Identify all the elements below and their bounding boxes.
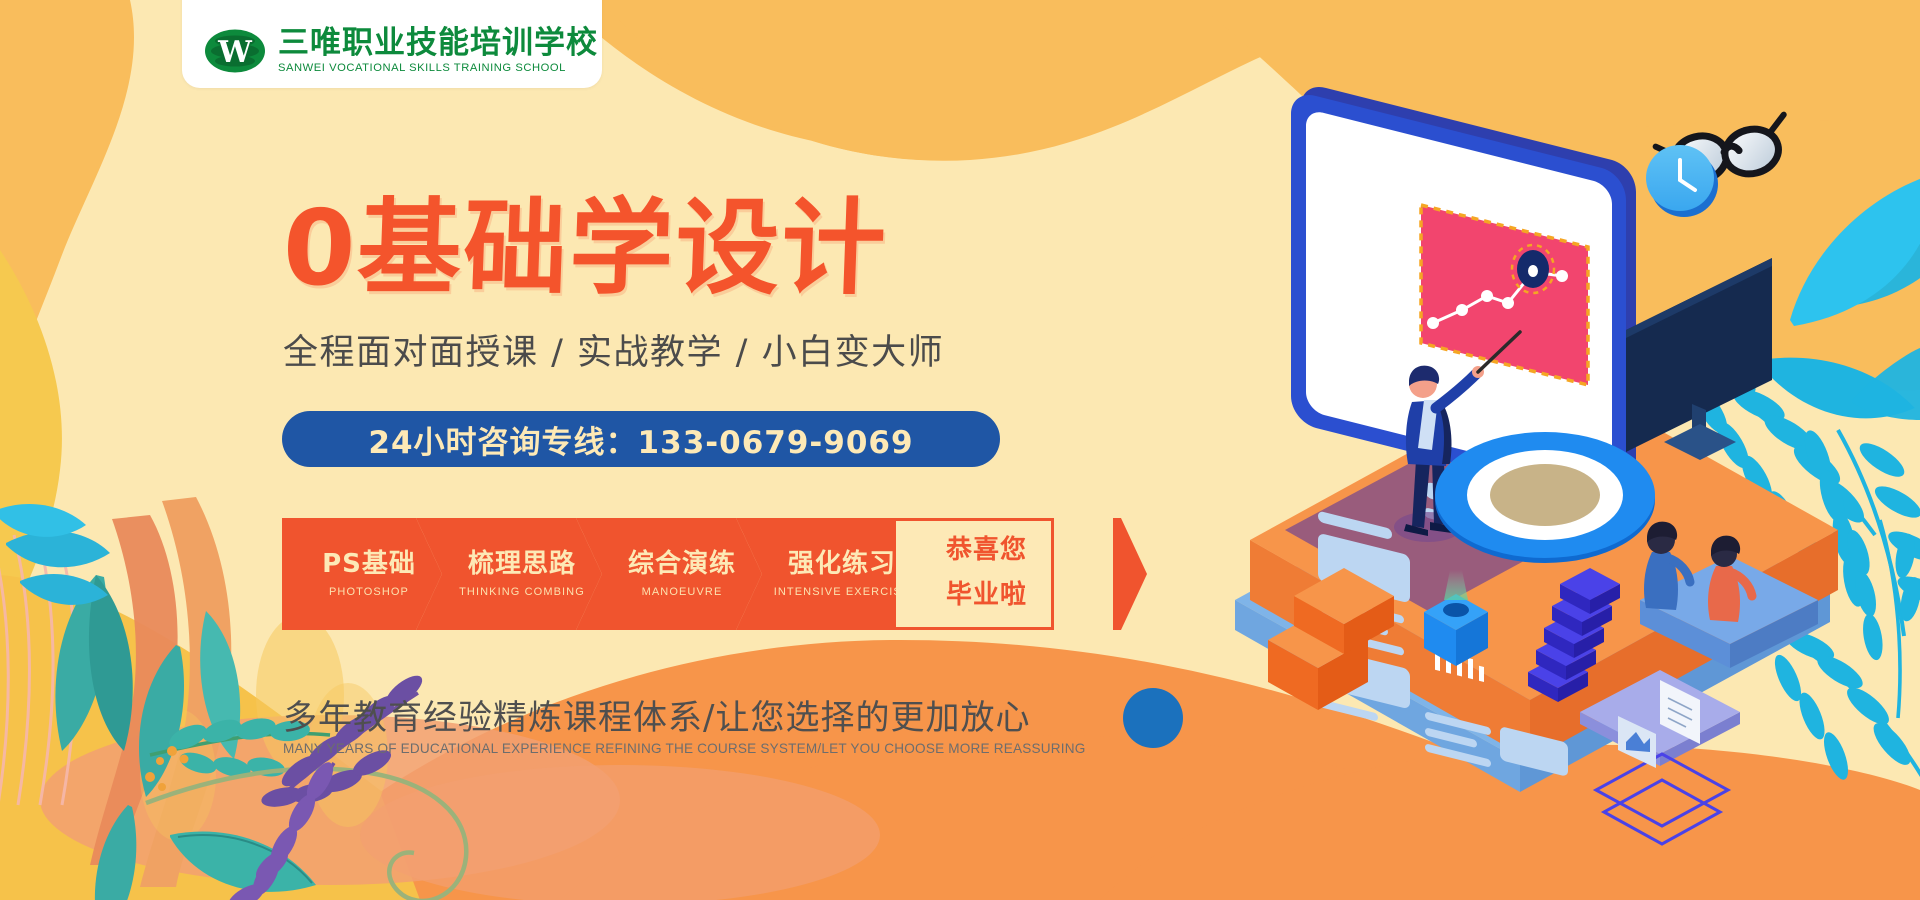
tagline-en: MANY YEARS OF EDUCATIONAL EXPERIENCE REF… — [283, 740, 1086, 756]
step-1[interactable]: PS基础 PHOTOSHOP — [282, 518, 442, 630]
promo-banner: W 三唯职业技能培训学校 SANWEI VOCATIONAL SKILLS TR… — [0, 0, 1920, 900]
svg-text:W: W — [217, 35, 253, 70]
tagline-cn: 多年教育经验精炼课程体系/让您选择的更加放心 — [283, 690, 1030, 739]
logo-name-en: SANWEI VOCATIONAL SKILLS TRAINING SCHOOL — [278, 63, 598, 74]
step-2[interactable]: 梳理思路 THINKING COMBING — [416, 518, 602, 630]
logo-card[interactable]: W 三唯职业技能培训学校 SANWEI VOCATIONAL SKILLS TR… — [182, 0, 602, 88]
step-graduation[interactable]: 恭喜您 毕业啦 — [896, 518, 1054, 630]
step-3-label-cn: 综合演练 — [628, 551, 736, 577]
step-4[interactable]: 强化练习 INTENSIVE EXERCISE — [736, 518, 922, 630]
school-logo-icon: W — [204, 28, 266, 74]
content-column: 0基础学设计 全程面对面授课 / 实战教学 / 小白变大师 24小时咨询专线：1… — [0, 0, 1250, 900]
step-1-label-cn: PS基础 — [322, 551, 416, 577]
graduation-line-1: 恭喜您 — [946, 537, 1027, 563]
step-4-label-cn: 强化练习 — [788, 551, 896, 577]
graduation-line-2: 毕业啦 — [946, 574, 1027, 611]
step-3-label-en: MANOEUVRE — [642, 587, 723, 598]
step-4-label-en: INTENSIVE EXERCISE — [774, 587, 911, 598]
hotline-text: 24小时咨询专线：133-0679-9069 — [368, 417, 913, 462]
step-2-label-en: THINKING COMBING — [459, 587, 585, 598]
step-1-label-en: PHOTOSHOP — [329, 587, 409, 598]
step-2-label-cn: 梳理思路 — [468, 551, 576, 577]
logo-name-cn: 三唯职业技能培训学校 — [278, 28, 598, 59]
subheadline: 全程面对面授课 / 实战教学 / 小白变大师 — [283, 336, 944, 371]
course-steps: PS基础 PHOTOSHOP 梳理思路 THINKING COMBING 综合演… — [282, 518, 1164, 630]
headline: 0基础学设计 — [281, 196, 889, 300]
hotline-pill[interactable]: 24小时咨询专线：133-0679-9069 — [282, 411, 1000, 467]
blue-ring-table — [1435, 432, 1655, 563]
step-3[interactable]: 综合演练 MANOEUVRE — [576, 518, 762, 630]
